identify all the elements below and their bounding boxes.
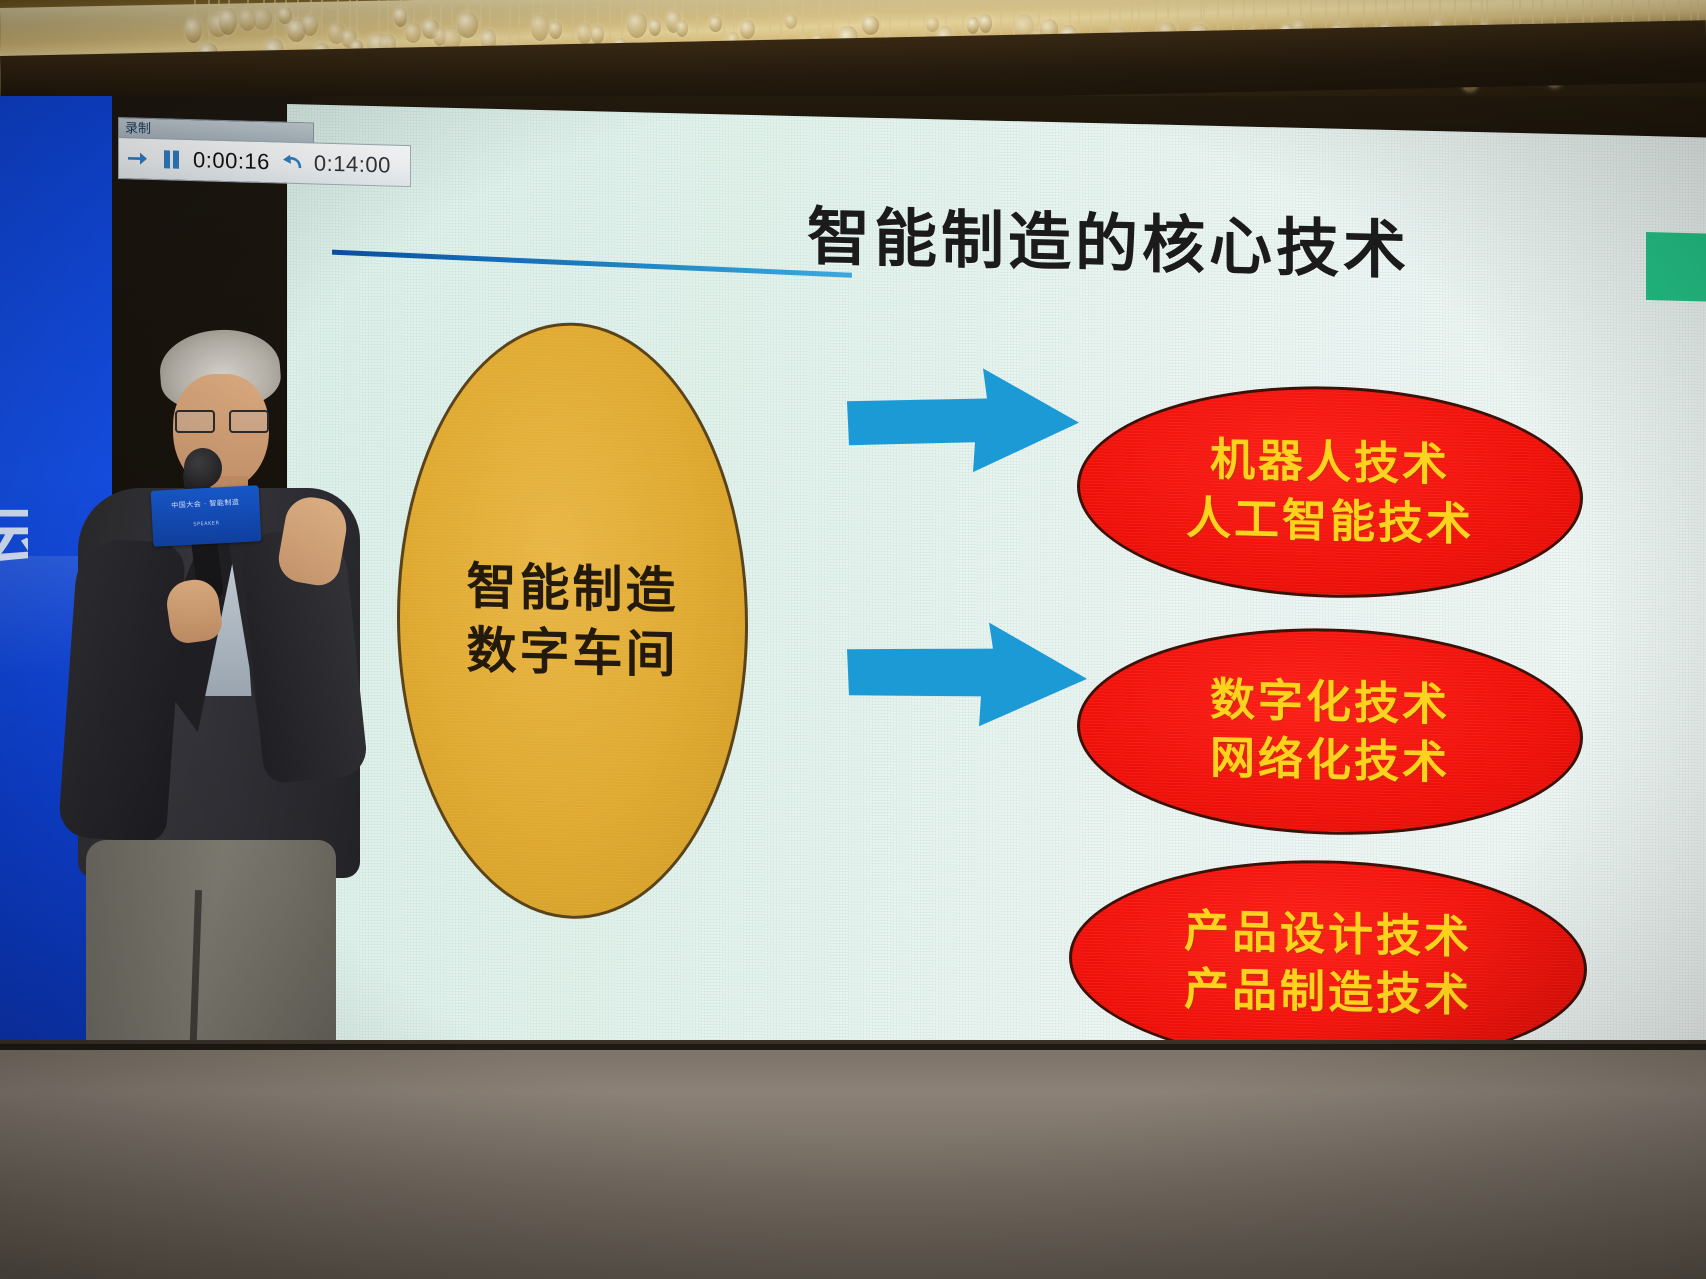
pause-button[interactable] (159, 146, 183, 173)
backdrop-partial-text: 云 (0, 500, 28, 574)
recording-toolbar[interactable]: 录制 0:00:16 0:14:00 (118, 117, 411, 187)
total-time: 0:14:00 (314, 150, 391, 178)
branch-1-line-2: 人工智能技术 (1186, 489, 1474, 554)
stage-floor (0, 1050, 1706, 1279)
screenshot-root: 云 智能制造的核心技术 智能制造 数字车间 (0, 0, 1706, 1279)
elapsed-time: 0:00:16 (193, 147, 270, 175)
arrow-right-icon (847, 365, 1079, 482)
presenter-name-badge: 中国大会 · 智能制造 SPEAKER (151, 485, 262, 547)
center-node-label: 智能制造 数字车间 (467, 554, 679, 687)
center-node-line-1: 智能制造 (467, 554, 679, 623)
center-node-line-2: 数字车间 (467, 618, 679, 687)
presenter-glasses (173, 410, 271, 430)
branch-1-line-1: 机器人技术 (1186, 430, 1474, 495)
arrow-2 (847, 619, 1087, 737)
ceiling (0, 0, 1706, 108)
branch-2-line-1: 数字化技术 (1210, 670, 1450, 734)
reset-button[interactable] (280, 150, 304, 177)
arrow-right-icon (127, 150, 147, 167)
undo-arrow-icon (281, 154, 303, 173)
branch-1-label: 机器人技术 人工智能技术 (1186, 430, 1474, 554)
arrow-1 (847, 365, 1079, 482)
title-underline (332, 250, 852, 278)
branch-2-line-2: 网络化技术 (1210, 729, 1450, 793)
center-node-ellipse: 智能制造 数字车间 (397, 319, 748, 923)
recording-controls[interactable]: 0:00:16 0:14:00 (118, 137, 411, 187)
branch-2-label: 数字化技术 网络化技术 (1210, 670, 1450, 793)
slide-title: 智能制造的核心技术 (807, 204, 1587, 289)
arrow-right-icon (847, 619, 1087, 737)
presenter: 中国大会 · 智能制造 SPEAKER (40, 330, 370, 1160)
branch-3-line-2: 产品制造技术 (1184, 960, 1472, 1025)
pause-icon (164, 150, 179, 168)
projection-screen: 智能制造的核心技术 智能制造 数字车间 (287, 104, 1706, 1087)
branch-3-label: 产品设计技术 产品制造技术 (1184, 902, 1472, 1026)
branch-ellipse-2: 数字化技术 网络化技术 (1077, 623, 1583, 841)
presenter-arm-left (58, 537, 187, 844)
advance-button[interactable] (125, 145, 149, 172)
slide-canvas: 智能制造的核心技术 智能制造 数字车间 (287, 104, 1706, 1087)
branch-ellipse-1: 机器人技术 人工智能技术 (1077, 381, 1583, 604)
slide-corner-accent (1646, 232, 1706, 301)
badge-line-2: SPEAKER (152, 518, 260, 531)
badge-line-1: 中国大会 · 智能制造 (151, 497, 259, 512)
branch-3-line-1: 产品设计技术 (1184, 902, 1472, 967)
